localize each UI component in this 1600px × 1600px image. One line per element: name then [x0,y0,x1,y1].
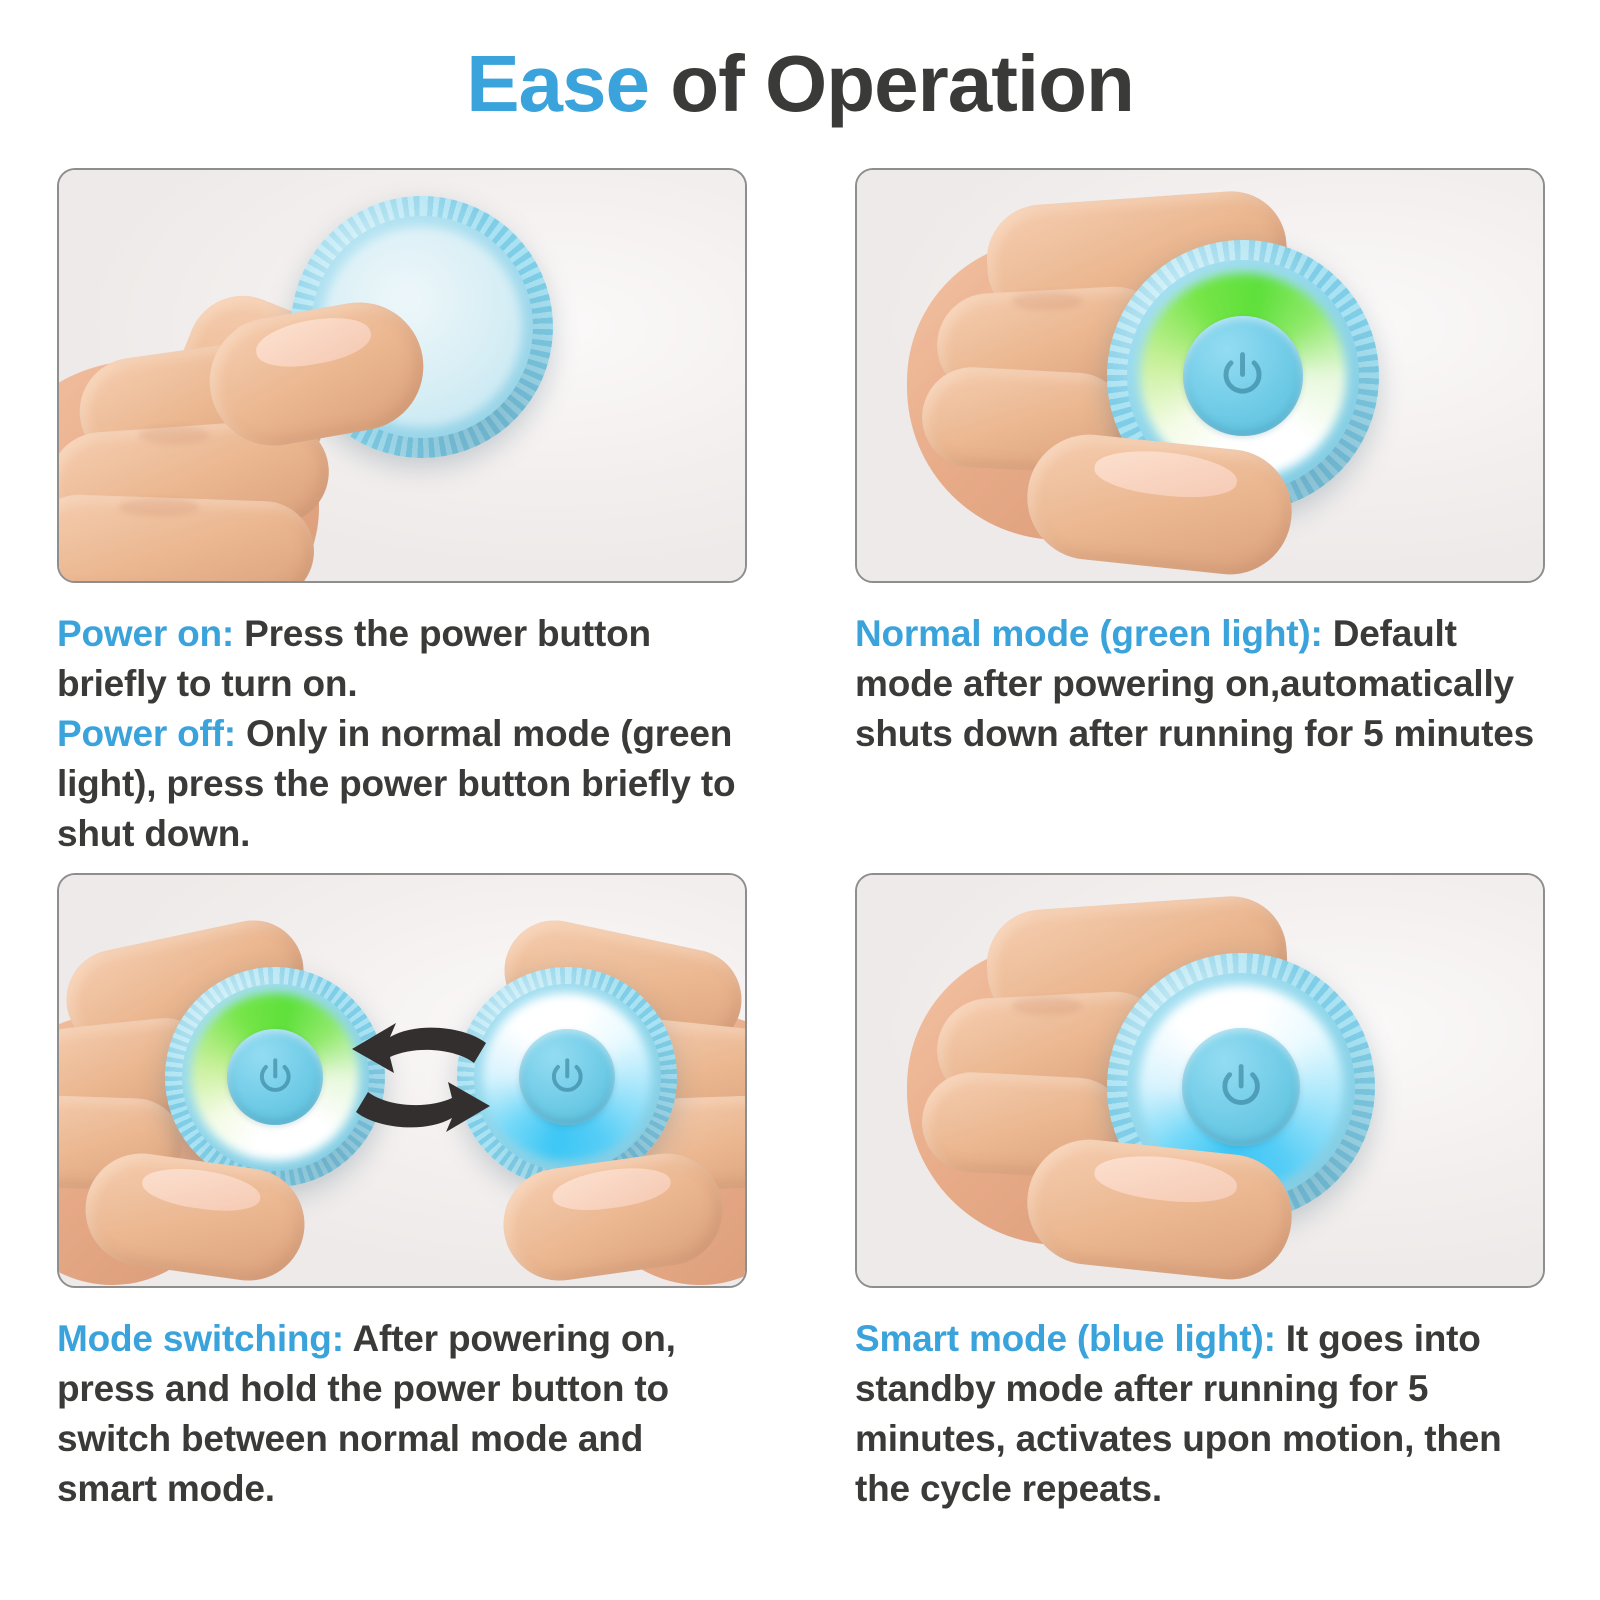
photo-normal-mode [855,168,1545,583]
swap-arrows-icon [346,1015,496,1140]
caption-normal-mode: Normal mode (green light): Default mode … [855,583,1545,759]
knuckle-crease [139,426,209,444]
caption-line: Smart mode (blue light): It goes into st… [855,1314,1545,1514]
caption-line-power-off: Power off: Only in normal mode (green li… [57,709,747,859]
power-button[interactable] [1182,1028,1300,1146]
power-button[interactable] [1183,316,1303,436]
panel-smart-mode: Smart mode (blue light): It goes into st… [855,873,1545,1514]
title-accent: Ease [466,39,649,128]
caption-label: Power off: [57,713,236,754]
power-icon [545,1055,590,1100]
knuckle-crease [1012,997,1082,1015]
caption-label: Smart mode (blue light): [855,1318,1276,1359]
photo-mode-switching [57,873,747,1288]
caption-line: Normal mode (green light): Default mode … [855,609,1545,759]
caption-label: Power on: [57,613,234,654]
power-icon [1214,1060,1268,1114]
caption-line-power-on: Power on: Press the power button briefly… [57,609,747,709]
title-rest: of Operation [649,39,1134,128]
page-title: Ease of Operation [0,0,1600,124]
caption-smart-mode: Smart mode (blue light): It goes into st… [855,1288,1545,1514]
feature-grid: Power on: Press the power button briefly… [57,168,1545,1514]
panel-mode-switching: Mode switching: After powering on, press… [57,873,747,1514]
caption-label: Normal mode (green light): [855,613,1323,654]
caption-line: Mode switching: After powering on, press… [57,1314,747,1514]
caption-label: Mode switching: [57,1318,344,1359]
power-button[interactable] [519,1029,616,1126]
power-icon [1215,348,1270,403]
mode-swap-arrows [346,1015,496,1140]
power-icon [253,1055,298,1100]
caption-power: Power on: Press the power button briefly… [57,583,747,859]
panel-normal-mode: Normal mode (green light): Default mode … [855,168,1545,859]
photo-smart-mode [855,873,1545,1288]
panel-power: Power on: Press the power button briefly… [57,168,747,859]
knuckle-crease [1012,292,1082,310]
knuckle-crease-2 [119,498,199,516]
photo-power [57,168,747,583]
caption-mode-switching: Mode switching: After powering on, press… [57,1288,747,1514]
power-button[interactable] [227,1029,324,1126]
